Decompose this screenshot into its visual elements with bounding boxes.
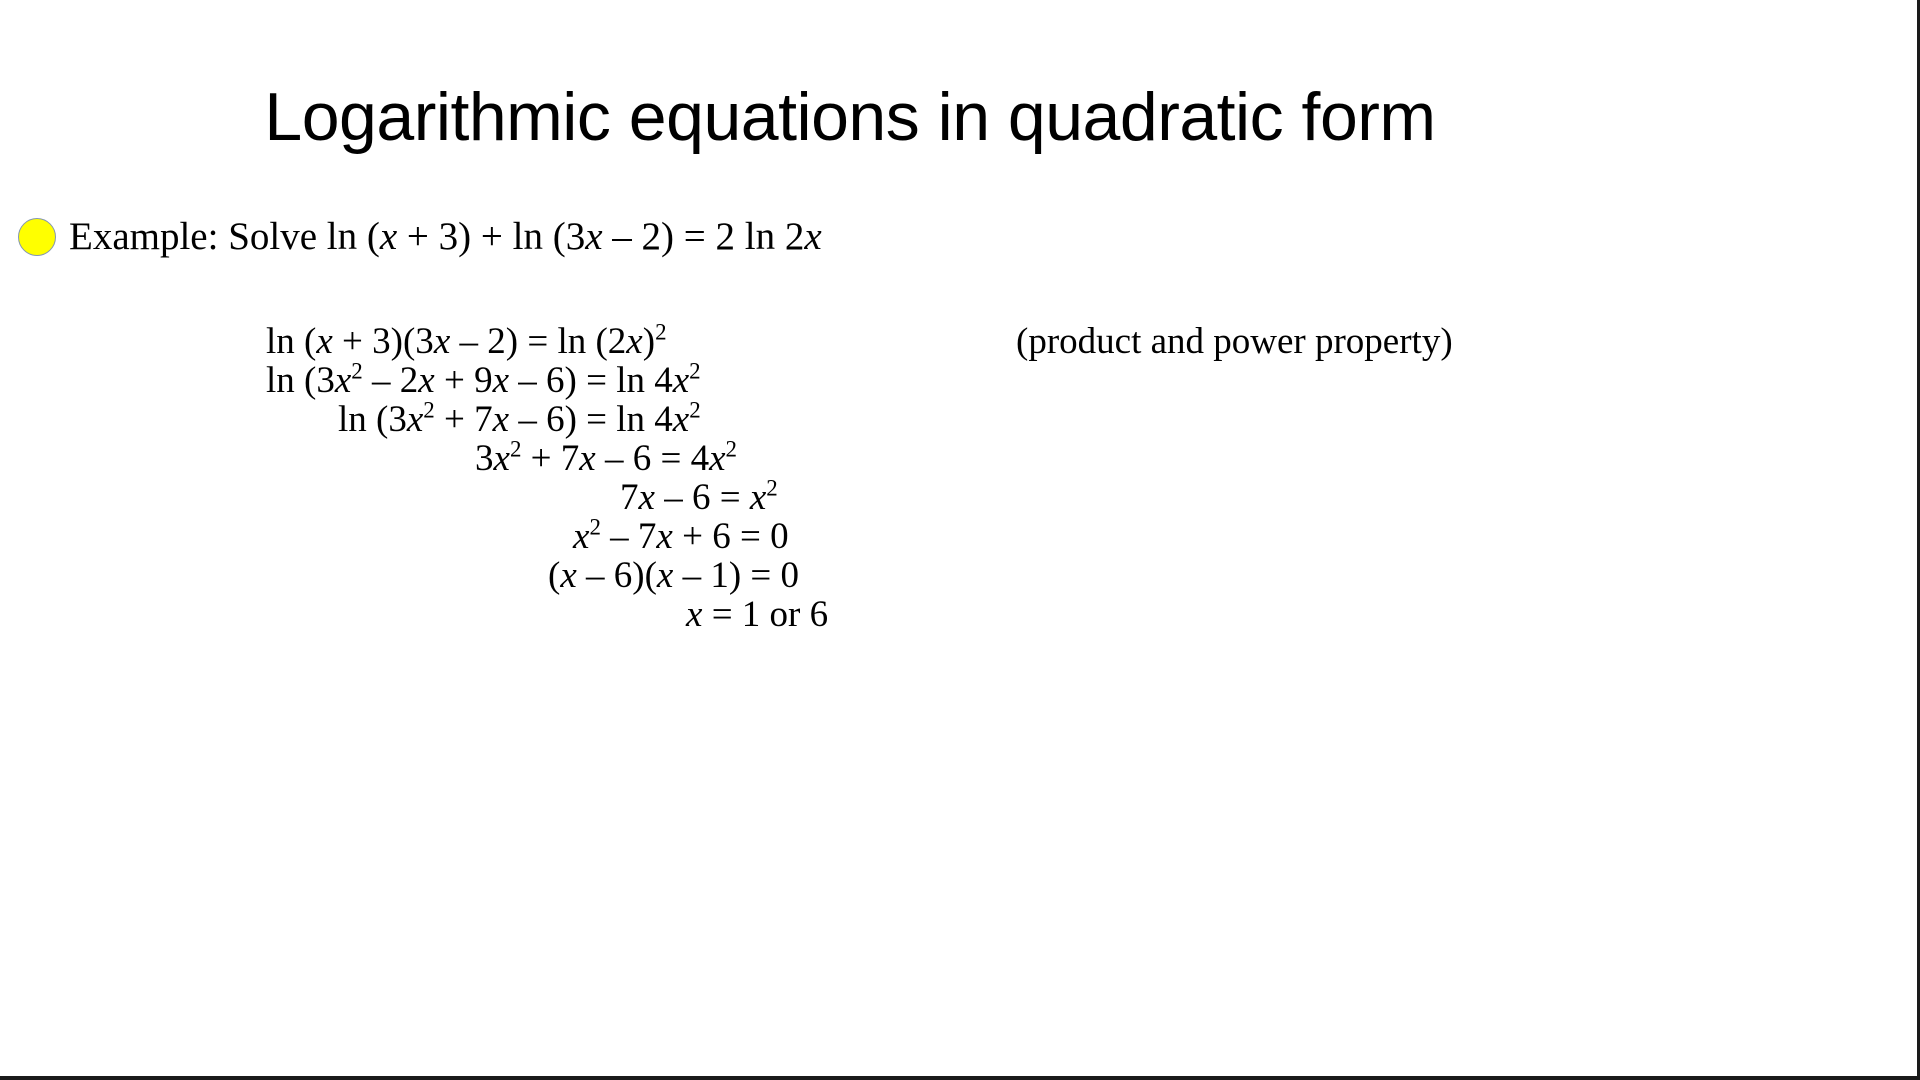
slide-canvas: Logarithmic equations in quadratic form … — [0, 0, 1920, 1080]
yellow-circle-bullet-icon — [18, 218, 56, 256]
example-bullet-row: Example: Solve ln (x + 3) + ln (3x – 2) … — [18, 215, 822, 259]
solution-step-row: (x – 6)(x – 1) = 0 — [120, 556, 1540, 595]
solution-step-8: x = 1 or 6 — [686, 595, 828, 634]
solution-step-2: ln (3x2 – 2x + 9x – 6) = ln 4x2 — [266, 361, 701, 400]
solution-step-row: 7x – 6 = x2 — [120, 478, 1540, 517]
solution-step-row: ln (x + 3)(3x – 2) = ln (2x)2 (product a… — [120, 322, 1540, 361]
solution-step-row: x2 – 7x + 6 = 0 — [120, 517, 1540, 556]
solution-steps: ln (x + 3)(3x – 2) = ln (2x)2 (product a… — [120, 322, 1540, 634]
solution-step-7: (x – 6)(x – 1) = 0 — [548, 556, 799, 595]
solution-step-row: x = 1 or 6 — [120, 595, 1540, 634]
solution-step-3: ln (3x2 + 7x – 6) = ln 4x2 — [338, 400, 701, 439]
solution-step-row: ln (3x2 + 7x – 6) = ln 4x2 — [120, 400, 1540, 439]
page-title: Logarithmic equations in quadratic form — [0, 78, 1700, 156]
solution-step-row: ln (3x2 – 2x + 9x – 6) = ln 4x2 — [120, 361, 1540, 400]
example-problem-text: Example: Solve ln (x + 3) + ln (3x – 2) … — [69, 215, 822, 259]
solution-step-5: 7x – 6 = x2 — [620, 478, 778, 517]
property-note: (product and power property) — [1016, 322, 1453, 361]
solution-step-1: ln (x + 3)(3x – 2) = ln (2x)2 — [266, 322, 667, 361]
solution-step-4: 3x2 + 7x – 6 = 4x2 — [475, 439, 737, 478]
solution-step-6: x2 – 7x + 6 = 0 — [573, 517, 789, 556]
solution-step-row: 3x2 + 7x – 6 = 4x2 — [120, 439, 1540, 478]
